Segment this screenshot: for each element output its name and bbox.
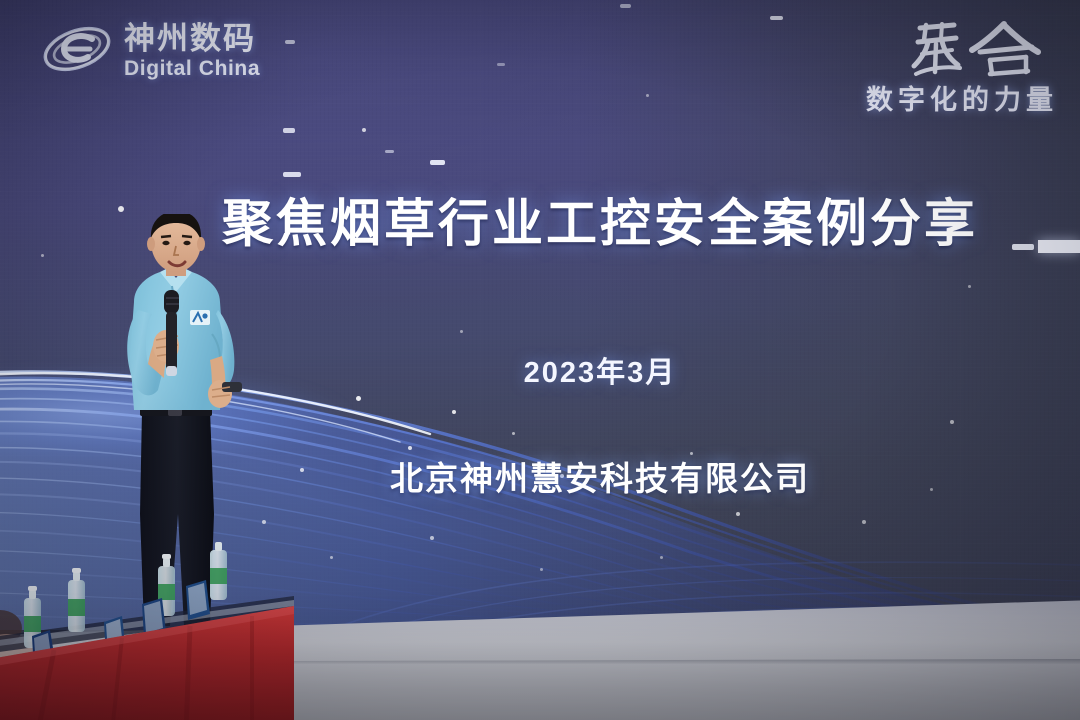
conference-stage-photo: 神州数码 Digital China	[0, 0, 1080, 720]
scene-vignette	[0, 0, 1080, 720]
